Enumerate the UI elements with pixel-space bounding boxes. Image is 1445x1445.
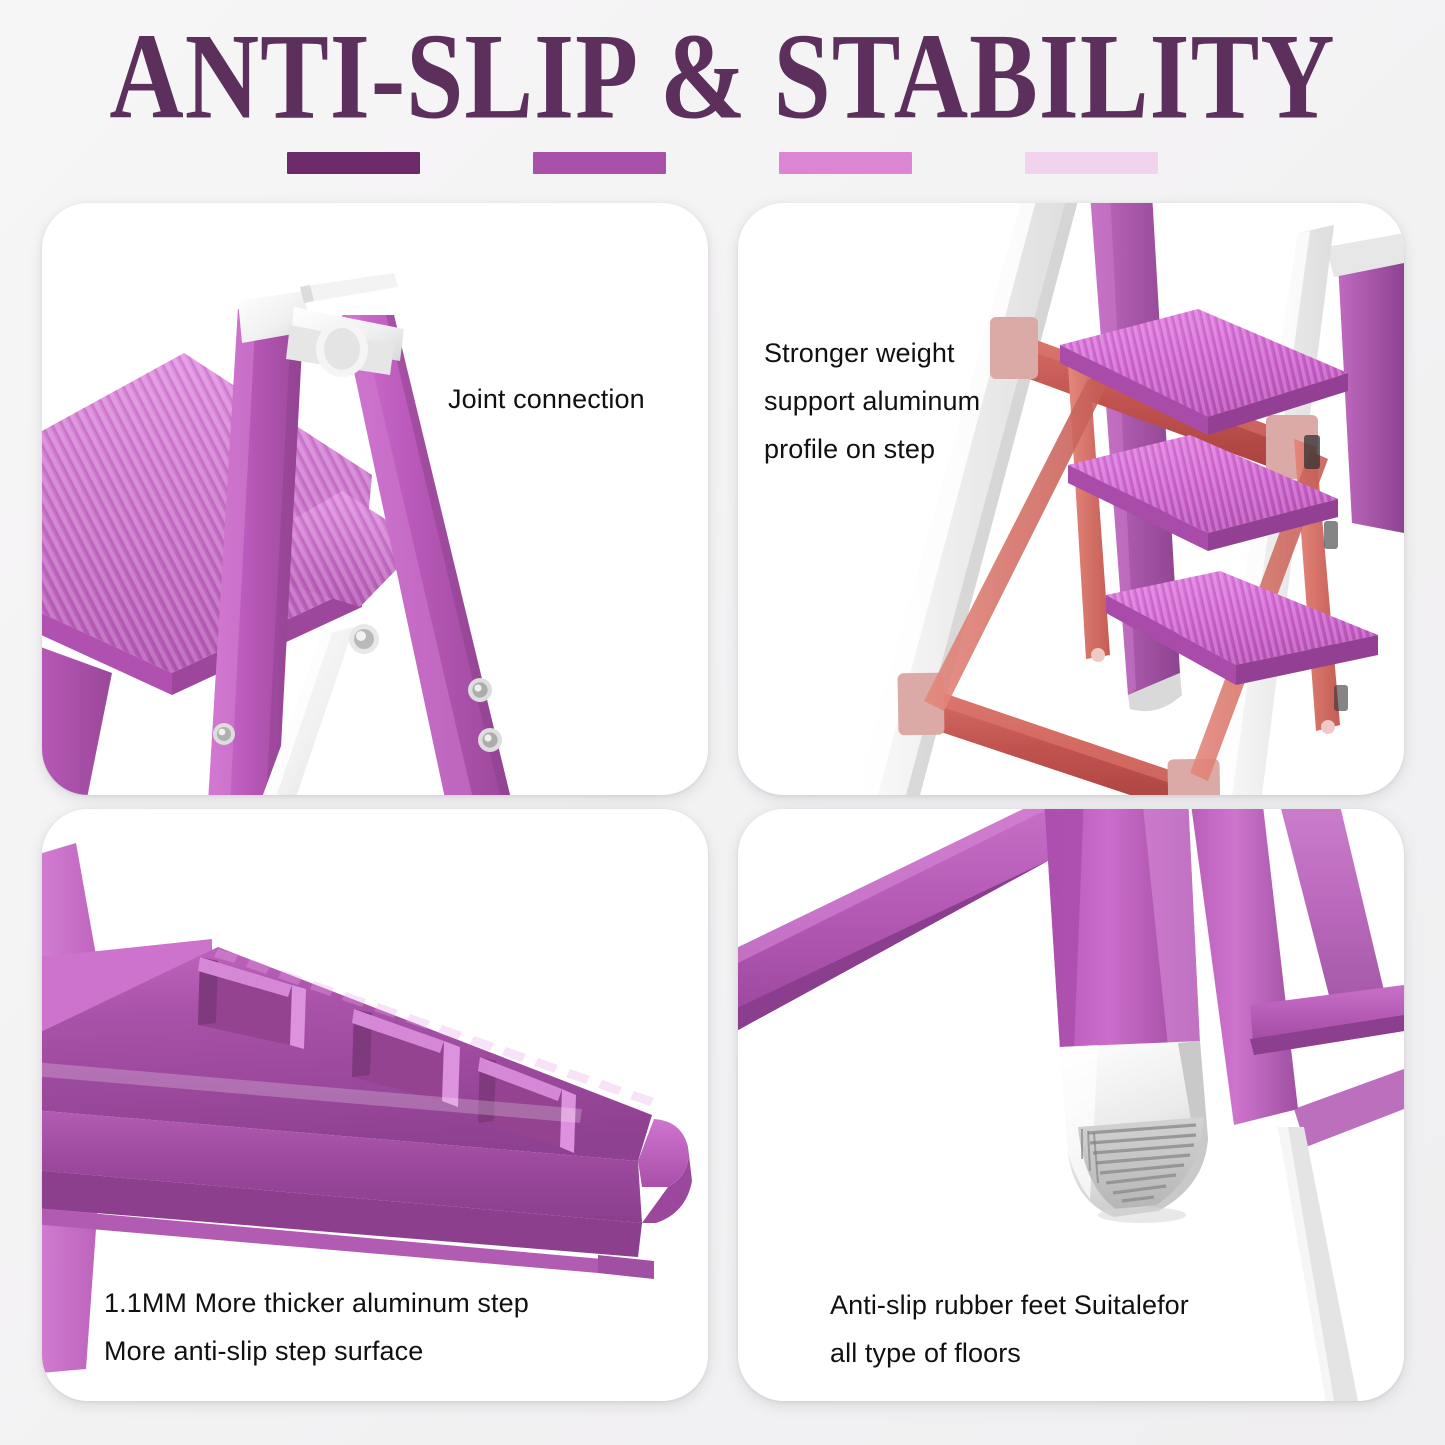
three-step-ladder-illustration [738, 203, 1404, 795]
card-caption-joint-connection: Joint connection [448, 375, 645, 423]
swatch-medium-purple [533, 152, 666, 174]
rivet-right-upper [468, 678, 492, 702]
rivet-left-rail [213, 723, 235, 745]
color-swatch-row [0, 152, 1445, 174]
feature-card-aluminum-profile: Stronger weight support aluminum profile… [738, 203, 1404, 795]
rivet-right-lower [478, 728, 502, 752]
step-ladder-hinge-closeup-illustration [42, 203, 708, 795]
page-title: ANTI-SLIP & STABILITY [7, 8, 1438, 147]
swatch-orchid [779, 152, 912, 174]
ladder-front-leg [1044, 809, 1200, 1049]
product-feature-infographic: ANTI-SLIP & STABILITY [0, 0, 1445, 1445]
swatch-light-pink [1025, 152, 1158, 174]
card-caption-thicker-step: 1.1MM More thicker aluminum step More an… [104, 1279, 529, 1375]
swatch-dark-purple [287, 152, 420, 174]
foot-contact-shadow [1098, 1207, 1186, 1223]
rivet-hinge [349, 624, 379, 654]
header: ANTI-SLIP & STABILITY [0, 0, 1445, 195]
card-caption-aluminum-profile: Stronger weight support aluminum profile… [764, 329, 980, 473]
feature-card-thicker-step: 1.1MM More thicker aluminum step More an… [42, 809, 708, 1401]
feature-card-rubber-feet: Anti-slip rubber feet Suitalefor all typ… [738, 809, 1404, 1401]
feature-card-joint-connection: Joint connection [42, 203, 708, 795]
card-caption-rubber-feet: Anti-slip rubber feet Suitalefor all typ… [830, 1281, 1189, 1377]
feature-card-grid: Joint connection [42, 203, 1404, 1401]
